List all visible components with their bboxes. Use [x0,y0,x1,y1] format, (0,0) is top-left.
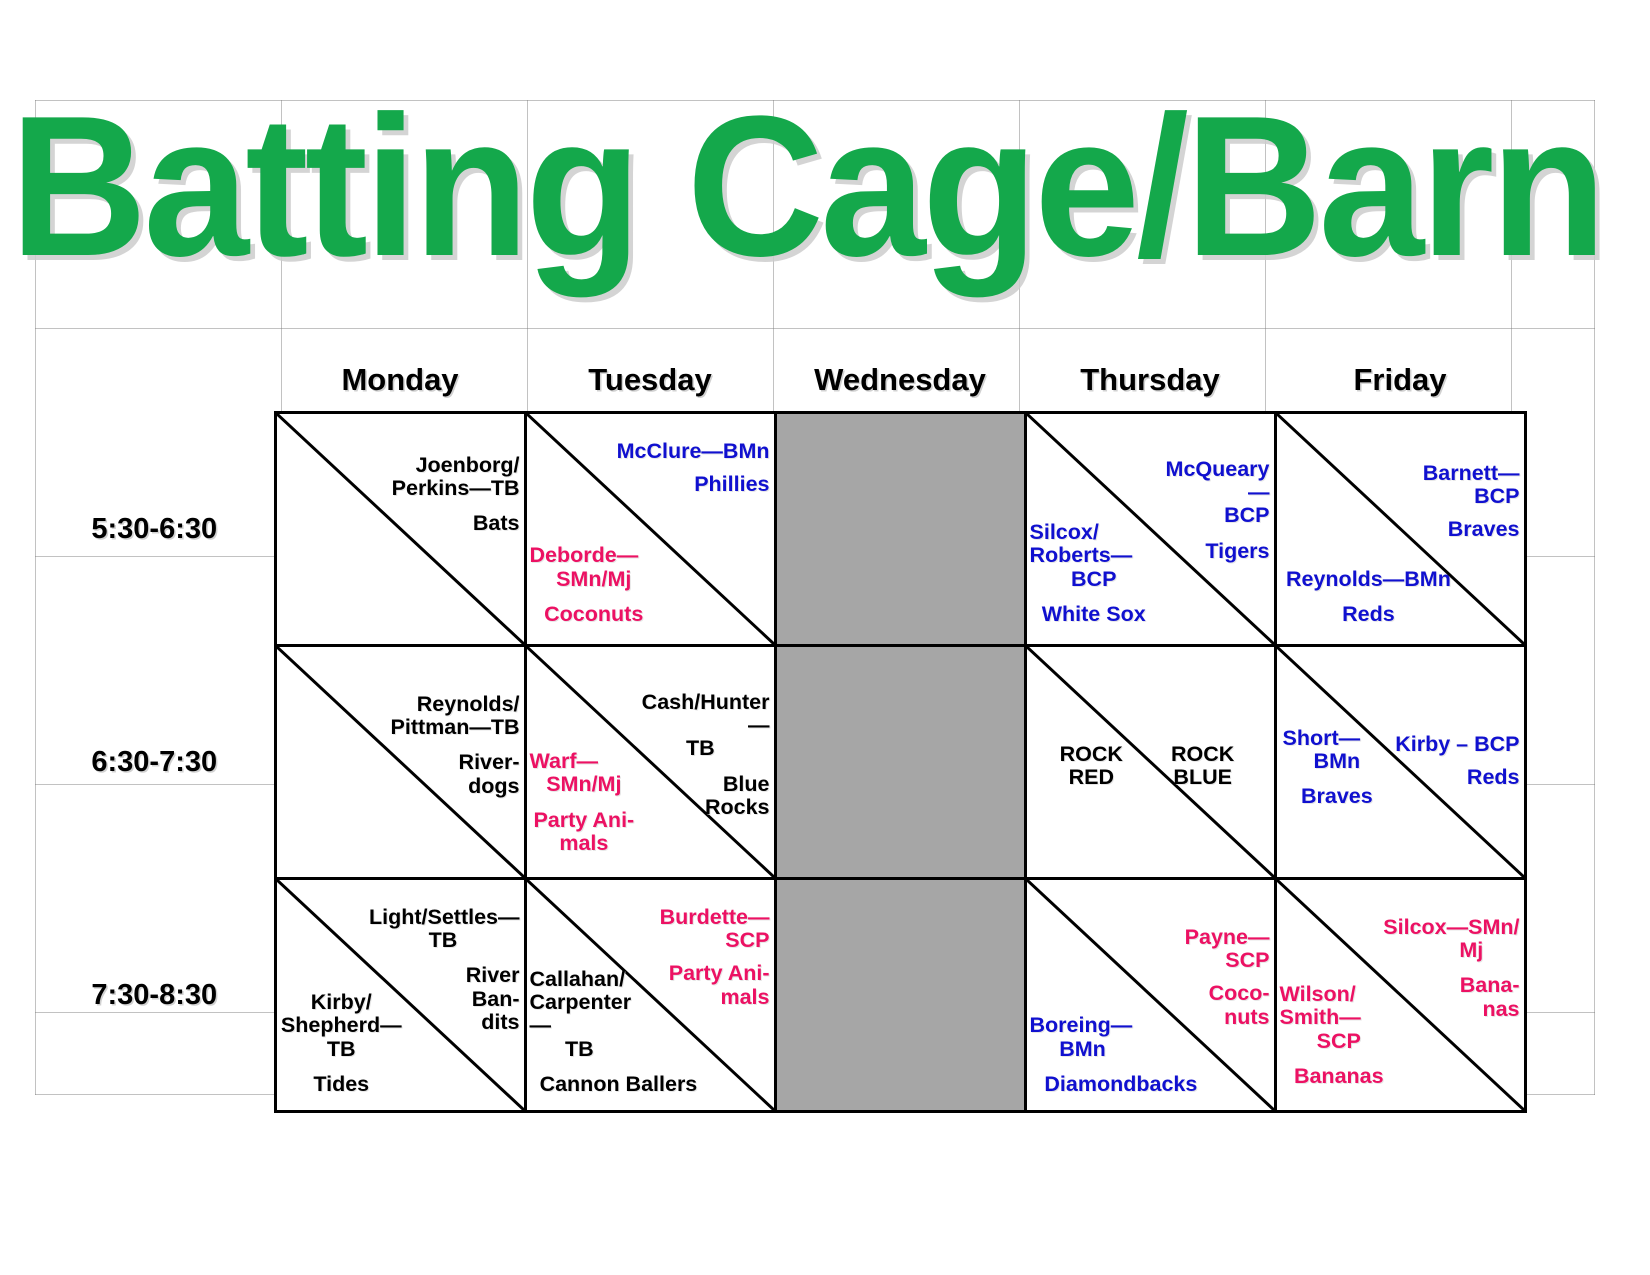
lower-entry: Wilson/ Smith— SCP Bananas [1280,983,1399,1088]
team-name: Tigers [1146,540,1270,563]
table-row: 5:30-6:30 Joenborg/ Perkins—TB Bats McCl… [35,413,1525,646]
team-name: Tides [280,1073,404,1096]
slot-wednesday-630-blocked [775,646,1025,879]
team-name: Phillies [611,473,769,496]
team-name: River [366,964,519,987]
team-name: Reds [1391,766,1519,789]
slot-friday-730[interactable]: Silcox—SMn/ Mj Bana- nas Wilson/ Smith— … [1275,879,1525,1112]
team-name: Party Ani- [530,809,639,832]
team-name: White Sox [1030,603,1158,626]
lower-entry: Deborde— SMn/Mj Coconuts [530,544,658,626]
slot-monday-530[interactable]: Joenborg/ Perkins—TB Bats [275,413,525,646]
slot-monday-730[interactable]: Light/Settles— TB River Ban- dits Kirby/… [275,879,525,1112]
slot-monday-630[interactable]: Reynolds/ Pittman—TB River- dogs [275,646,525,879]
slot-tuesday-730[interactable]: Burdette—SCP Party Ani- mals Callahan/ C… [525,879,775,1112]
time-label-630: 6:30-7:30 [35,646,275,879]
slot-thursday-730[interactable]: Payne—SCP Coco- nuts Boreing— BMn Diamon… [1025,879,1275,1112]
table-row: 7:30-8:30 Light/Settles— TB River Ban- d… [35,879,1525,1112]
team-name: Coconuts [530,603,658,626]
team-name-cont: Rocks [631,796,769,819]
lower-entry: ROCK RED [1035,743,1149,789]
day-header-friday: Friday [1275,355,1525,413]
slot-friday-630[interactable]: Kirby – BCP Reds Short— BMn Braves [1275,646,1525,879]
day-header-monday: Monday [275,355,525,413]
team-name: River- [361,751,519,774]
time-label-730: 7:30-8:30 [35,879,275,1112]
page-title: Batting Cage/Barn [10,92,1559,282]
upper-entry: Barnett—BCP Braves [1381,462,1519,542]
lower-entry: Boreing— BMn Diamondbacks [1030,1014,1213,1096]
slot-thursday-530[interactable]: McQueary— BCP Tigers Silcox/ Roberts— BC… [1025,413,1275,646]
upper-entry: Kirby – BCP Reds [1391,733,1519,789]
table-header-row: Monday Tuesday Wednesday Thursday Friday [35,355,1525,413]
team-name: Braves [1283,785,1392,808]
slot-wednesday-730-blocked [775,879,1025,1112]
team-name: Reds [1280,603,1458,626]
slot-thursday-630[interactable]: ROCK BLUE ROCK RED [1025,646,1275,879]
lower-entry: Short— BMn Braves [1283,727,1392,809]
slot-friday-530[interactable]: Barnett—BCP Braves Reynolds—BMn Reds [1275,413,1525,646]
lower-entry: Warf— SMn/Mj Party Ani- mals [530,750,639,855]
team-name: Cannon Ballers [530,1073,708,1096]
slot-wednesday-530-blocked [775,413,1025,646]
corner-cell [35,355,275,413]
upper-entry: McQueary— BCP Tigers [1146,458,1270,563]
upper-entry: ROCK BLUE [1146,743,1260,789]
table-row: 6:30-7:30 Reynolds/ Pittman—TB River- do… [35,646,1525,879]
upper-entry: Joenborg/ Perkins—TB Bats [361,454,519,536]
team-name: Braves [1381,518,1519,541]
day-header-wednesday: Wednesday [775,355,1025,413]
team-name: Bats [361,512,519,535]
upper-entry: Reynolds/ Pittman—TB River- dogs [361,693,519,798]
team-name-cont: mals [530,832,639,855]
lower-entry: Kirby/ Shepherd— TB Tides [280,991,404,1096]
lower-entry: Callahan/ Carpenter— TB Cannon Ballers [530,968,708,1096]
team-name: Blue [631,773,769,796]
day-header-tuesday: Tuesday [525,355,775,413]
lower-entry: Silcox/ Roberts— BCP White Sox [1030,521,1158,626]
upper-entry: McClure—BMn Phillies [611,440,769,496]
team-name: Diamondbacks [1030,1073,1213,1096]
slot-tuesday-630[interactable]: Cash/Hunter— TB Blue Rocks Warf— SMn/Mj … [525,646,775,879]
day-header-thursday: Thursday [1025,355,1275,413]
time-label-530: 5:30-6:30 [35,413,275,646]
upper-entry: Cash/Hunter— TB Blue Rocks [631,691,769,819]
team-name-cont: dogs [361,775,519,798]
lower-entry: Reynolds—BMn Reds [1280,568,1458,626]
team-name: Bananas [1280,1065,1399,1088]
team-name: Coco- [1141,982,1269,1005]
schedule-table: Monday Tuesday Wednesday Thursday Friday… [35,355,1527,1113]
slot-tuesday-530[interactable]: McClure—BMn Phillies Deborde— SMn/Mj Coc… [525,413,775,646]
